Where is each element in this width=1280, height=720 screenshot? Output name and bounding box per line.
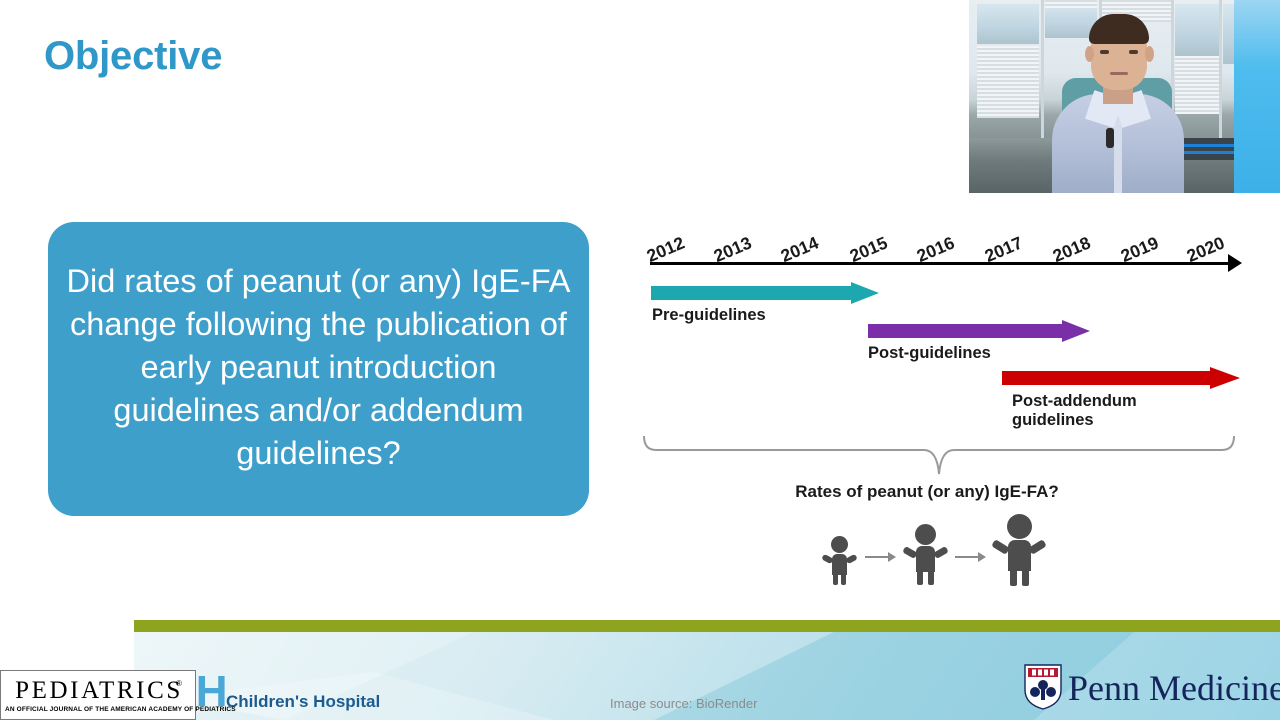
objective-question-callout: Did rates of peanut (or any) IgE-FA chan… [48,222,589,516]
period-arrow-post-guidelines [868,320,1090,342]
objective-question-text: Did rates of peanut (or any) IgE-FA chan… [64,260,573,475]
growth-arrow [865,556,889,558]
growth-arrow-head-icon [888,552,896,562]
brace-label: Rates of peanut (or any) IgE-FA? [630,482,1224,502]
timeline-axis-arrowhead-icon [1228,254,1242,272]
person-head [915,524,936,545]
chop-line-1: Children's Hospital [226,692,380,711]
penn-medicine-logo: Penn Medicine [1024,664,1254,716]
window-mullion [1219,0,1222,140]
person-leg [917,570,923,585]
timeline-graphic: 2012 2013 2014 2015 2016 2017 2018 2019 … [630,196,1250,606]
lapel-microphone [1106,128,1114,148]
presenter-mouth [1110,72,1128,75]
period-label-post-guidelines: Post-guidelines [868,344,991,363]
presenter-eye [1129,50,1138,54]
presenter-video[interactable] [969,0,1280,193]
three-growing-people-icon [820,514,1050,584]
person-body [832,554,847,575]
presenter-eye [1100,50,1109,54]
pediatrics-logo: PEDIATRICS ® AN OFFICIAL JOURNAL OF THE … [0,670,196,720]
window-pane [977,4,1039,44]
presenter-ear [1085,46,1094,62]
person-body [916,546,935,572]
window-blinds [1175,56,1219,114]
window-mullion [1041,0,1044,140]
person-head [1007,514,1032,539]
window-pane [1175,4,1219,56]
footer-accent-bar [134,620,1280,632]
person-head [831,536,848,553]
growth-arrow [955,556,979,558]
page-title: Objective [44,34,222,79]
slide-footer: CH Children's Hospital of Philadelphia I… [134,620,1280,720]
arrow-head-icon [1210,367,1240,389]
image-source-caption: Image source: BioRender [610,696,757,711]
penn-wordmark: Penn Medicine [1068,666,1280,710]
registered-mark-icon: ® [176,679,182,688]
person-arm [991,539,1010,555]
arrow-head-icon [1062,320,1090,342]
person-leg [833,573,838,585]
person-leg [1022,569,1029,586]
period-label-post-addendum: Post-addendum guidelines [1012,392,1137,430]
person-leg [928,570,934,585]
brace-icon [642,434,1236,476]
window-blinds [977,46,1039,118]
video-blue-edge-strip [1234,0,1280,193]
person-arm [845,554,858,564]
period-arrow-post-addendum [1002,367,1240,389]
pediatrics-wordmark: PEDIATRICS [9,677,189,705]
arrow-shaft [1002,371,1210,385]
growth-arrow-head-icon [978,552,986,562]
slide-canvas: Objective Did rates of peanut (or any) I… [0,0,1280,720]
window-blinds [1045,0,1097,8]
pediatrics-subtitle: AN OFFICIAL JOURNAL OF THE AMERICAN ACAD… [5,706,193,713]
presenter-ear [1145,46,1154,62]
chop-wordmark: Children's Hospital of Philadelphia [226,670,380,720]
person-leg [1010,569,1017,586]
penn-shield-icon [1024,664,1062,710]
period-label-pre-guidelines: Pre-guidelines [652,306,766,325]
person-body [1008,540,1031,571]
person-arm [933,546,949,559]
person-arm [1028,539,1047,555]
arrow-shaft [868,324,1062,338]
timeline-axis [650,262,1234,265]
arrow-head-icon [851,282,879,304]
period-arrow-pre-guidelines [651,282,879,304]
arrow-shaft [651,286,851,300]
footer-background: CH Children's Hospital of Philadelphia I… [134,632,1280,720]
person-leg [841,573,846,585]
